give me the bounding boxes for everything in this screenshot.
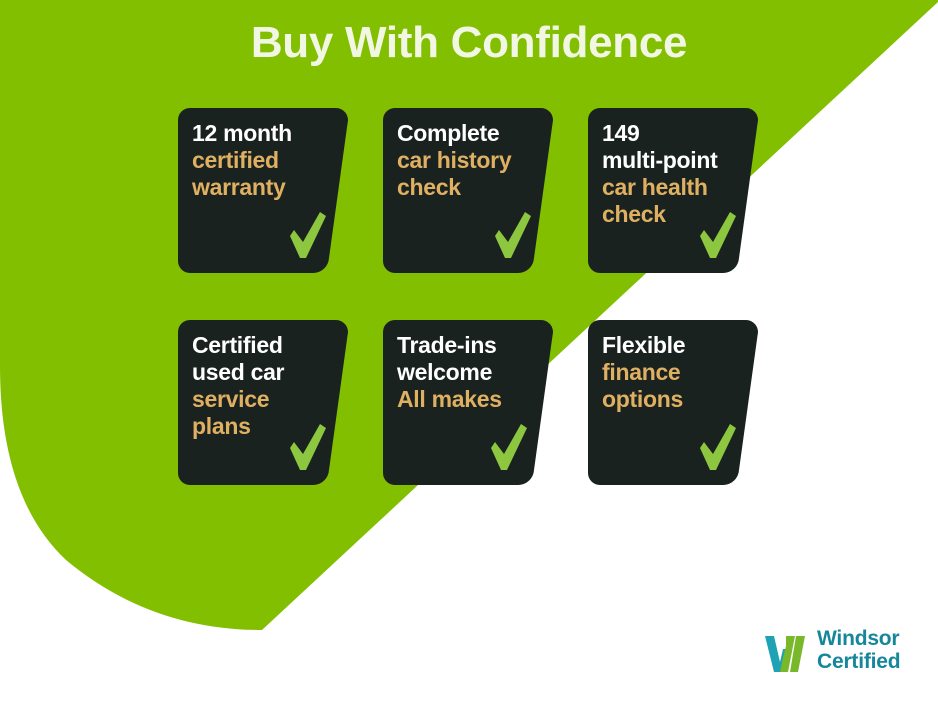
page-title: Buy With Confidence — [0, 18, 938, 69]
card-subline: certified — [192, 147, 342, 174]
feature-card-complete-car-history-check[interactable]: Complete car history check — [383, 108, 555, 273]
card-text: Complete car history check — [397, 120, 547, 201]
check-icon — [288, 212, 328, 260]
card-headline-line: used car — [192, 359, 342, 386]
card-subline: car history — [397, 147, 547, 174]
brand-logo: Windsor Certified — [762, 628, 900, 674]
feature-card-grid: 12 month certified warranty Complete car… — [178, 108, 758, 522]
feature-card-flexible-finance-options[interactable]: Flexible finance options — [588, 320, 760, 485]
feature-card-149-multi-point-car-health-check[interactable]: 149 multi-point car health check — [588, 108, 760, 273]
card-text: Trade-ins welcome All makes — [397, 332, 547, 413]
check-icon — [698, 212, 738, 260]
card-headline-line: welcome — [397, 359, 547, 386]
check-icon — [493, 212, 533, 260]
card-headline-line: 149 — [602, 120, 752, 147]
card-headline-line: Certified — [192, 332, 342, 359]
feature-card-certified-used-car-service-plans[interactable]: Certified used car service plans — [178, 320, 350, 485]
card-headline-line: Complete — [397, 120, 547, 147]
card-subline: warranty — [192, 174, 342, 201]
poster-canvas: Buy With Confidence 12 month certified w… — [0, 0, 938, 704]
feature-card-12-month-certified-warranty[interactable]: 12 month certified warranty — [178, 108, 350, 273]
check-icon — [288, 424, 328, 472]
card-headline-line: multi-point — [602, 147, 752, 174]
card-subline: All makes — [397, 386, 547, 413]
logo-line-2: Certified — [817, 651, 900, 674]
card-text: 12 month certified warranty — [192, 120, 342, 201]
card-subline: car health — [602, 174, 752, 201]
logo-wordmark: Windsor Certified — [817, 628, 900, 673]
logo-line-1: Windsor — [817, 628, 900, 651]
check-icon — [698, 424, 738, 472]
card-headline-line: Flexible — [602, 332, 752, 359]
card-subline: options — [602, 386, 752, 413]
card-subline: finance — [602, 359, 752, 386]
card-text: Flexible finance options — [602, 332, 752, 413]
card-headline-line: Trade-ins — [397, 332, 547, 359]
feature-row-2: Certified used car service plans Trade-i… — [178, 320, 758, 522]
check-icon — [489, 424, 529, 472]
card-subline: service — [192, 386, 342, 413]
feature-card-trade-ins-welcome-all-makes[interactable]: Trade-ins welcome All makes — [383, 320, 555, 485]
card-headline-line: 12 month — [192, 120, 342, 147]
feature-row-1: 12 month certified warranty Complete car… — [178, 108, 758, 310]
windsor-w-icon — [762, 628, 808, 674]
card-subline: check — [397, 174, 547, 201]
